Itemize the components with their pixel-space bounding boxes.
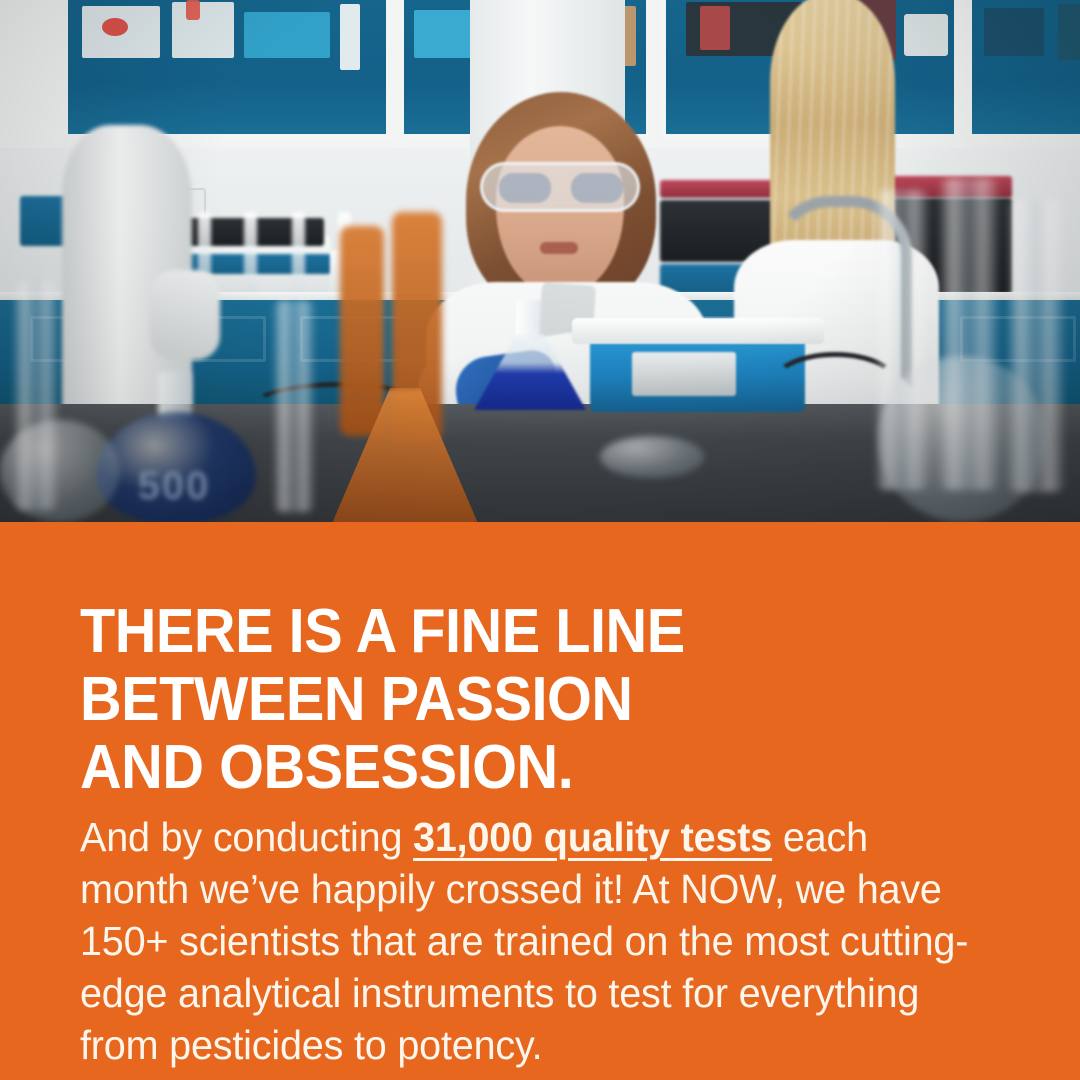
instrument-display [632, 352, 736, 396]
safety-goggles-icon [480, 162, 640, 212]
round-bottom-flask [878, 356, 1046, 522]
goggle-lens [499, 173, 551, 203]
quality-tests-highlight: 31,000 quality tests [413, 814, 772, 860]
headline: THERE IS A FINE LINE BETWEEN PASSION AND… [80, 598, 954, 802]
shelf-item [340, 4, 360, 70]
shelf-item [186, 0, 200, 20]
cabinet-divider [392, 0, 402, 148]
social-post-canvas: 500 THERE IS A FINE LINE BETWEEN PASSION… [0, 0, 1080, 1080]
orange-text-panel: THERE IS A FINE LINE BETWEEN PASSION AND… [0, 522, 1080, 1080]
scientist-mouth [540, 242, 578, 254]
shelf-item [244, 12, 330, 58]
erlenmeyer-flask-blue [470, 300, 590, 410]
upper-cabinet [62, 0, 392, 140]
flask-500ml: 500 [96, 372, 256, 522]
shelf-item [984, 8, 1044, 56]
petri-dish [600, 436, 704, 478]
laboratory-photo: 500 [0, 0, 1080, 522]
shelf-item [414, 10, 472, 58]
body-copy: And by conducting 31,000 quality tests e… [80, 811, 973, 1071]
shelf-item [172, 2, 234, 58]
body-copy-before: And by conducting [80, 814, 413, 860]
shelf-item [1058, 4, 1080, 60]
left-technician-arm [150, 270, 220, 360]
glass-cylinder [274, 300, 314, 512]
flask-volume-label: 500 [108, 464, 240, 509]
round-bottom-flask [0, 420, 120, 522]
shelf-item [102, 18, 128, 36]
goggle-lens [571, 173, 623, 203]
amber-glass-column [340, 226, 384, 436]
cabinet-divider [0, 0, 62, 148]
upper-cabinet [966, 0, 1080, 140]
